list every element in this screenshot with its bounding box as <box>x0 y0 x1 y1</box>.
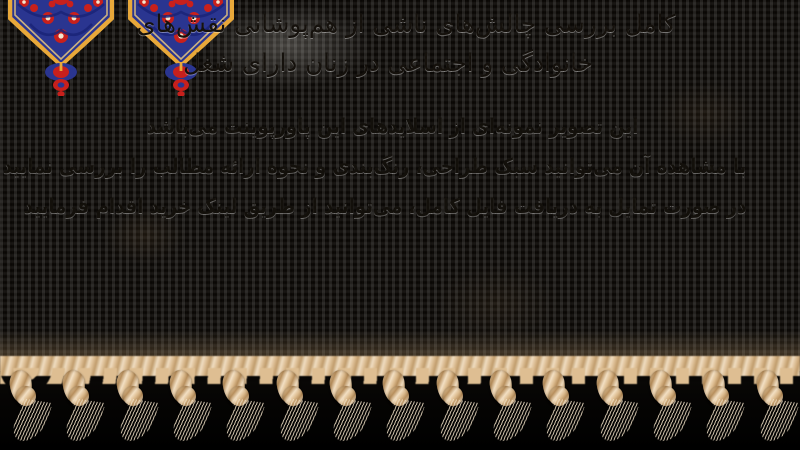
fringe-tassel <box>535 356 587 450</box>
fringe-tassel <box>2 356 54 450</box>
fringe-threads <box>543 398 587 443</box>
slide-title-line-1: کامل بررسی چالش‌های ناشی از هم‌پوشانی نق… <box>30 4 782 43</box>
carpet-knotted-fringe <box>0 356 800 450</box>
fringe-threads <box>489 398 533 443</box>
fringe-tassel <box>55 356 107 450</box>
fringe-tassel <box>482 356 534 450</box>
fringe-threads <box>756 398 800 443</box>
fringe-threads <box>9 398 53 443</box>
fringe-tassel <box>642 356 694 450</box>
fringe-tassel <box>429 356 481 450</box>
slide-body: این تصویر نمونه‌ای از اسلایدهای این پاور… <box>0 106 794 226</box>
fringe-tassel <box>162 356 214 450</box>
fringe-threads <box>223 398 267 443</box>
fringe-threads <box>596 398 640 443</box>
slide-body-line-1: این تصویر نمونه‌ای از اسلایدهای این پاور… <box>48 106 747 146</box>
fringe-tassel <box>589 356 641 450</box>
fringe-tassel <box>749 356 800 450</box>
slide-title-line-2: خانوادگی و اجتماعی در زنان دارای شغل <box>30 43 782 82</box>
fringe-threads <box>169 398 213 443</box>
fringe-threads <box>383 398 427 443</box>
fringe-tassel <box>322 356 374 450</box>
fringe-tassel <box>375 356 427 450</box>
fringe-tassel <box>269 356 321 450</box>
slide-body-line-3: در صورت تمایل به دریافت فایل کامل، می‌تو… <box>48 186 747 226</box>
fringe-tassel <box>695 356 747 450</box>
fringe-threads <box>276 398 320 443</box>
fringe-threads <box>63 398 107 443</box>
fringe-threads <box>116 398 160 443</box>
fringe-threads <box>329 398 373 443</box>
fringe-threads <box>703 398 747 443</box>
presentation-slide: کامل بررسی چالش‌های ناشی از هم‌پوشانی نق… <box>0 0 800 450</box>
fringe-threads <box>436 398 480 443</box>
slide-body-line-2: با مشاهده آن می‌توانید سبک طراحی، رنگ‌بن… <box>48 146 747 186</box>
fringe-tassel <box>109 356 161 450</box>
fringe-tassel <box>215 356 267 450</box>
fringe-threads <box>649 398 693 443</box>
slide-title: کامل بررسی چالش‌های ناشی از هم‌پوشانی نق… <box>30 4 782 82</box>
